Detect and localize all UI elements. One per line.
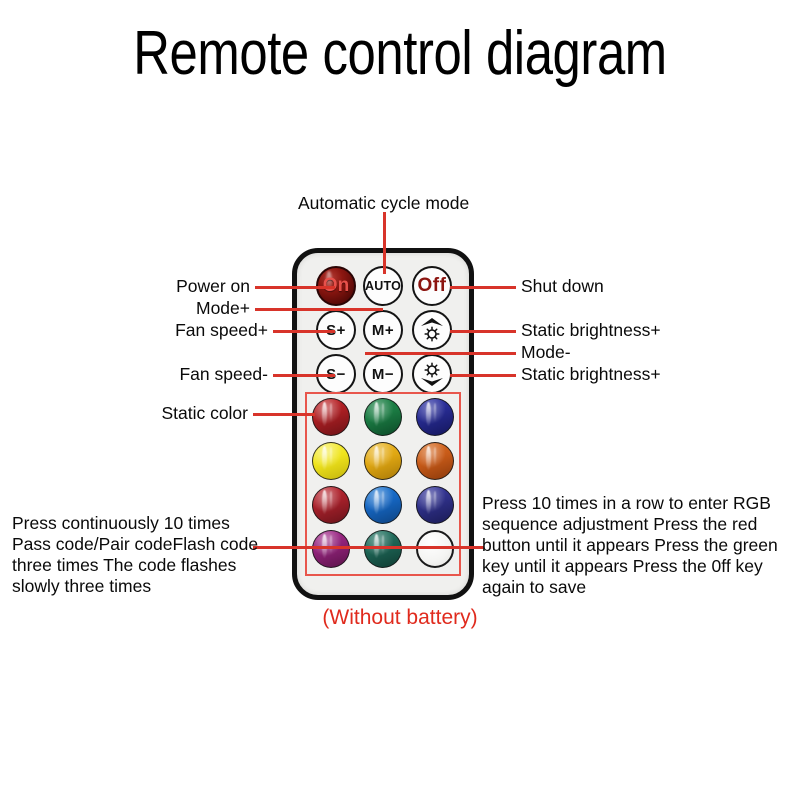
callout-static-brightness-plus: Static brightness+	[521, 319, 661, 341]
leader-line-rgb-sequence	[440, 546, 484, 549]
gloss-highlight-secondary	[330, 535, 333, 554]
key-mode-down[interactable]: M−	[363, 354, 403, 394]
callout-pair-code-line-4: slowly three times	[12, 576, 262, 597]
gloss-highlight	[426, 402, 431, 426]
gloss-highlight	[322, 490, 327, 514]
key-mode-up-label: M+	[372, 322, 394, 339]
callout-mode-plus: Mode+	[55, 297, 250, 319]
color-key-indigo[interactable]	[416, 486, 454, 524]
gloss-highlight-secondary	[382, 447, 385, 466]
color-key-yellow[interactable]	[312, 442, 350, 480]
color-key-orange[interactable]	[416, 442, 454, 480]
gloss-highlight-secondary	[434, 491, 437, 510]
color-key-azure[interactable]	[364, 486, 402, 524]
callout-rgb-sequence: Press 10 times in a row to enter RGB seq…	[482, 493, 797, 598]
callout-shut-down: Shut down	[521, 275, 604, 297]
callout-rgb-sequence-line-2: sequence adjustment Press the red	[482, 514, 797, 535]
callout-rgb-sequence-line-4: key until it appears Press the 0ff key	[482, 556, 797, 577]
leader-line-auto	[383, 212, 386, 274]
callout-rgb-sequence-line-5: again to save	[482, 577, 797, 598]
callout-pair-code: Press continuously 10 times Pass code/Pa…	[12, 513, 262, 597]
remote-control-diagram: On AUTO Off S+ M+	[0, 0, 800, 800]
callout-pair-code-line-2: Pass code/Pair codeFlash code	[12, 534, 262, 555]
key-brightness-up[interactable]	[412, 310, 452, 350]
color-key-crimson[interactable]	[312, 486, 350, 524]
caption-without-battery: (Without battery)	[0, 606, 800, 630]
key-brightness-down[interactable]	[412, 354, 452, 394]
gloss-highlight	[322, 446, 327, 470]
callout-pair-code-line-3: three times The code flashes	[12, 555, 262, 576]
gloss-highlight-secondary	[330, 447, 333, 466]
callout-fan-speed-minus: Fan speed-	[55, 363, 268, 385]
color-key-purple[interactable]	[312, 530, 350, 568]
callout-pair-code-line-1: Press continuously 10 times	[12, 513, 262, 534]
callout-automatic-cycle-mode: Automatic cycle mode	[298, 192, 469, 214]
key-mode-down-label: M−	[372, 366, 394, 383]
gloss-highlight-secondary	[382, 535, 385, 554]
callout-static-color: Static color	[55, 402, 248, 424]
callout-mode-minus: Mode-	[521, 341, 571, 363]
color-key-amber[interactable]	[364, 442, 402, 480]
gloss-highlight	[426, 490, 431, 514]
gloss-highlight	[374, 490, 379, 514]
key-off-label: Off	[418, 275, 447, 297]
callout-fan-speed-plus: Fan speed+	[55, 319, 268, 341]
color-key-teal[interactable]	[364, 530, 402, 568]
gloss-highlight-secondary	[382, 403, 385, 422]
leader-line-mode-minus	[365, 352, 516, 355]
leader-line-static-brightness-plus	[450, 330, 516, 333]
color-key-green[interactable]	[364, 398, 402, 436]
callout-static-brightness-plus-2: Static brightness+	[521, 363, 661, 385]
callout-rgb-sequence-line-1: Press 10 times in a row to enter RGB	[482, 493, 797, 514]
leader-line-power-on	[255, 286, 335, 289]
callout-rgb-sequence-line-3: button until it appears Press the green	[482, 535, 797, 556]
gloss-highlight-secondary	[330, 491, 333, 510]
color-key-white[interactable]	[416, 530, 454, 568]
leader-line-static-brightness-plus-2	[450, 374, 516, 377]
leader-line-fan-speed-plus	[273, 330, 335, 333]
gloss-highlight-secondary	[434, 403, 437, 422]
gloss-highlight	[322, 402, 327, 426]
leader-line-shut-down	[450, 286, 516, 289]
key-mode-up[interactable]: M+	[363, 310, 403, 350]
brightness-down-icon	[415, 357, 449, 391]
callout-power-on: Power on	[55, 275, 250, 297]
leader-line-mode-plus	[255, 308, 383, 311]
leader-line-pair-code	[253, 546, 458, 549]
brightness-up-icon	[415, 313, 449, 347]
color-key-blue[interactable]	[416, 398, 454, 436]
color-key-red[interactable]	[312, 398, 350, 436]
leader-line-fan-speed-minus	[273, 374, 335, 377]
gloss-highlight	[374, 446, 379, 470]
gloss-highlight-secondary	[434, 447, 437, 466]
leader-line-static-color	[253, 413, 315, 416]
key-off[interactable]: Off	[412, 266, 452, 306]
gloss-highlight	[374, 402, 379, 426]
gloss-highlight	[426, 446, 431, 470]
gloss-highlight-secondary	[330, 403, 333, 422]
gloss-highlight-secondary	[382, 491, 385, 510]
key-auto-label: AUTO	[365, 279, 401, 293]
